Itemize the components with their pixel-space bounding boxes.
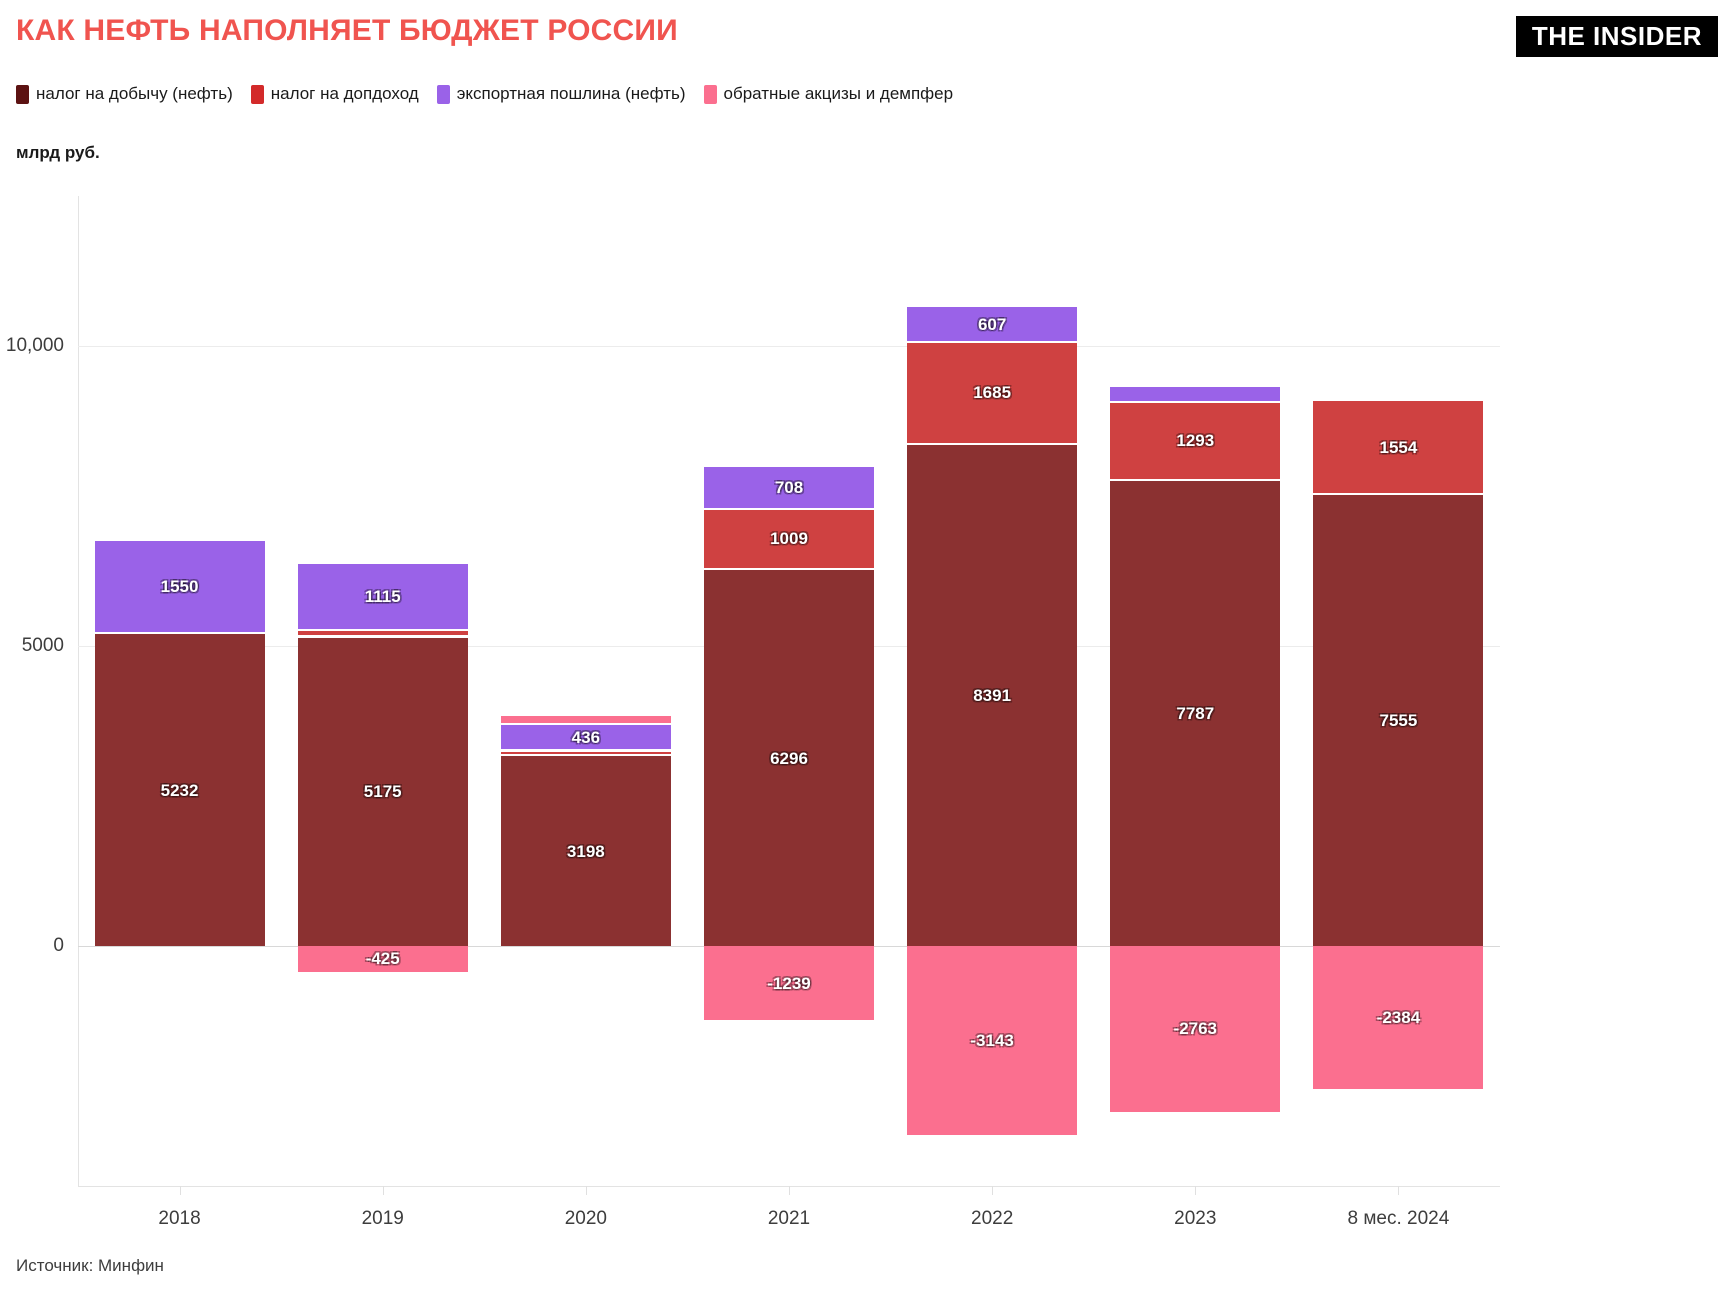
- bar-segment[interactable]: 1293: [1110, 401, 1280, 479]
- legend-swatch-icon: [16, 85, 29, 104]
- bar-value-label: 1293: [1176, 432, 1214, 449]
- bar-value-label: 7787: [1176, 705, 1214, 722]
- bar-segment[interactable]: 1550: [95, 539, 265, 632]
- legend-item-label: экспортная пошлина (нефть): [457, 84, 686, 104]
- x-axis-tick: [586, 1186, 587, 1195]
- plot-area: 5232155051751115-425319843662961009708-1…: [78, 196, 1500, 1186]
- x-axis-tick-label: 2018: [158, 1208, 200, 1230]
- bar-group[interactable]: 62961009708-1239: [704, 196, 874, 1186]
- legend-item-label: обратные акцизы и демпфер: [724, 84, 954, 104]
- bar-segment[interactable]: [501, 714, 671, 724]
- bar-segment-negative[interactable]: -425: [298, 946, 468, 972]
- bar-segment-negative[interactable]: -2384: [1313, 946, 1483, 1089]
- bar-value-label: -1239: [767, 975, 810, 992]
- bar-value-label: 436: [572, 729, 600, 746]
- bar-value-label: 7555: [1380, 712, 1418, 729]
- bar-segment-negative[interactable]: -1239: [704, 946, 874, 1020]
- bar-value-label: -2763: [1174, 1020, 1217, 1037]
- legend-item: налог на допдоход: [251, 84, 419, 104]
- bar-segment[interactable]: 1554: [1313, 399, 1483, 492]
- bar-value-label: -2384: [1377, 1009, 1420, 1026]
- bar-segment-negative[interactable]: -2763: [1110, 946, 1280, 1112]
- the-insider-logo: THE INSIDER: [1516, 16, 1718, 57]
- bar-segment[interactable]: [501, 750, 671, 755]
- bar-segment[interactable]: 436: [501, 723, 671, 749]
- x-axis-tick: [180, 1186, 181, 1195]
- bar-segment[interactable]: 7787: [1110, 479, 1280, 946]
- legend-item-label: налог на добычу (нефть): [36, 84, 233, 104]
- x-axis-tick-label: 8 мес. 2024: [1348, 1208, 1450, 1230]
- bar-segment[interactable]: 5232: [95, 632, 265, 946]
- bar-segment[interactable]: 607: [907, 305, 1077, 341]
- bar-value-label: 1685: [973, 384, 1011, 401]
- bar-value-label: 1115: [365, 588, 401, 605]
- bar-segment[interactable]: 8391: [907, 443, 1077, 946]
- bar-group[interactable]: 75551554-2384: [1313, 196, 1483, 1186]
- legend-swatch-icon: [704, 85, 717, 104]
- bar-value-label: 8391: [973, 687, 1011, 704]
- x-axis-tick-label: 2022: [971, 1208, 1013, 1230]
- bar-segment[interactable]: 5175: [298, 636, 468, 947]
- bar-segment[interactable]: 1685: [907, 341, 1077, 442]
- x-axis-tick-label: 2020: [565, 1208, 607, 1230]
- bar-value-label: -3143: [970, 1032, 1013, 1049]
- legend-item: налог на добычу (нефть): [16, 84, 233, 104]
- bar-segment[interactable]: 6296: [704, 568, 874, 946]
- x-axis-tick: [789, 1186, 790, 1195]
- x-axis-tick: [992, 1186, 993, 1195]
- legend-item: обратные акцизы и демпфер: [704, 84, 954, 104]
- bar-segment[interactable]: [298, 629, 468, 635]
- bar-segment-negative[interactable]: -3143: [907, 946, 1077, 1135]
- bar-group[interactable]: 77871293-2763: [1110, 196, 1280, 1186]
- bar-group[interactable]: 52321550: [95, 196, 265, 1186]
- bar-segment[interactable]: 1115: [298, 562, 468, 629]
- x-axis-tick: [383, 1186, 384, 1195]
- y-axis-labels: 0500010,000: [0, 196, 78, 1186]
- bar-group[interactable]: 3198436: [501, 196, 671, 1186]
- legend-item: экспортная пошлина (нефть): [437, 84, 686, 104]
- bar-segment[interactable]: 1009: [704, 508, 874, 569]
- bar-value-label: 5175: [364, 783, 402, 800]
- y-axis-line: [78, 196, 79, 1186]
- bar-value-label: 708: [775, 479, 803, 496]
- legend-swatch-icon: [437, 85, 450, 104]
- bar-value-label: 607: [978, 316, 1006, 333]
- chart-legend: налог на добычу (нефть)налог на допдоход…: [16, 84, 971, 104]
- bar-segment[interactable]: 7555: [1313, 493, 1483, 946]
- y-axis-tick-label: 0: [53, 935, 64, 957]
- y-axis-units-label: млрд руб.: [16, 143, 100, 163]
- bar-segment[interactable]: 3198: [501, 754, 671, 946]
- legend-item-label: налог на допдоход: [271, 84, 419, 104]
- bar-segment[interactable]: [1110, 385, 1280, 401]
- legend-swatch-icon: [251, 85, 264, 104]
- source-note: Источник: Минфин: [16, 1256, 164, 1276]
- x-axis-tick: [1195, 1186, 1196, 1195]
- y-axis-tick-label: 10,000: [6, 335, 64, 357]
- x-axis-tick-label: 2021: [768, 1208, 810, 1230]
- bar-value-label: 1550: [161, 578, 199, 595]
- bar-value-label: 5232: [161, 782, 199, 799]
- x-axis: 2018201920202021202220238 мес. 2024: [78, 1186, 1500, 1256]
- x-axis-tick-label: 2019: [362, 1208, 404, 1230]
- x-axis-tick: [1398, 1186, 1399, 1195]
- bar-value-label: 1009: [770, 530, 808, 547]
- y-axis-tick-label: 5000: [22, 635, 64, 657]
- bar-group[interactable]: 51751115-425: [298, 196, 468, 1186]
- bar-group[interactable]: 83911685607-3143: [907, 196, 1077, 1186]
- bar-segment[interactable]: 708: [704, 465, 874, 507]
- bar-value-label: -425: [366, 950, 400, 967]
- bar-value-label: 3198: [567, 843, 605, 860]
- bar-value-label: 6296: [770, 750, 808, 767]
- chart-page: КАК НЕФТЬ НАПОЛНЯЕТ БЮДЖЕТ РОССИИ THE IN…: [0, 0, 1732, 1299]
- x-axis-tick-label: 2023: [1174, 1208, 1216, 1230]
- page-title: КАК НЕФТЬ НАПОЛНЯЕТ БЮДЖЕТ РОССИИ: [16, 14, 678, 48]
- bar-value-label: 1554: [1380, 439, 1418, 456]
